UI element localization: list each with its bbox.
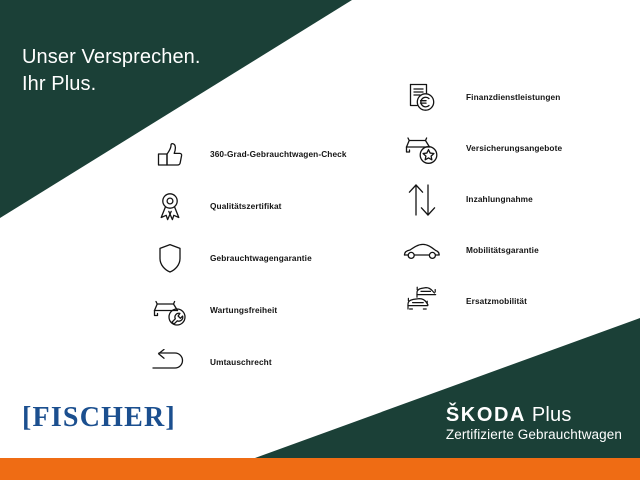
feature-item: Versicherungsangebote xyxy=(400,123,630,174)
headline-line-2: Ihr Plus. xyxy=(22,71,201,98)
feature-item: Umtauschrecht xyxy=(148,336,378,388)
orange-footer-bar xyxy=(0,458,640,480)
feature-item: Mobilitätsgarantie xyxy=(400,225,630,276)
feature-label: Qualitätszertifikat xyxy=(192,201,282,212)
dealer-logo-name: FISCHER xyxy=(33,402,166,433)
feature-item: Gebrauchtwagengarantie xyxy=(148,232,378,284)
promo-banner: Unser Versprechen. Ihr Plus. 360-Grad-Ge… xyxy=(0,0,640,480)
award-rosette-icon xyxy=(148,184,192,228)
feature-label: Umtauschrecht xyxy=(192,357,272,368)
feature-label: Versicherungsangebote xyxy=(444,143,562,154)
two-cars-icon xyxy=(400,280,444,324)
feature-label: Ersatzmobilität xyxy=(444,296,527,307)
brand-logo: ŠKODA Plus Zertifizierte Gebrauchtwagen xyxy=(446,404,622,443)
thumbs-up-icon xyxy=(148,132,192,176)
dealer-logo: [FISCHER] xyxy=(22,402,176,434)
feature-item: Inzahlungnahme xyxy=(400,174,630,225)
dealer-logo-bracket-close: ] xyxy=(165,402,176,433)
feature-label: 360-Grad-Gebrauchtwagen-Check xyxy=(192,149,347,160)
brand-plus-label: Plus xyxy=(526,404,571,426)
document-euro-icon xyxy=(400,76,444,120)
headline: Unser Versprechen. Ihr Plus. xyxy=(22,17,201,125)
feature-label: Inzahlungnahme xyxy=(444,194,533,205)
dealer-logo-bracket-open: [ xyxy=(22,402,33,433)
brand-wordmark: ŠKODA xyxy=(446,404,526,426)
feature-item: Ersatzmobilität xyxy=(400,276,630,327)
feature-label: Mobilitätsgarantie xyxy=(444,245,539,256)
car-star-icon xyxy=(400,127,444,171)
feature-label: Finanzdienstleistungen xyxy=(444,92,560,103)
feature-item: Qualitätszertifikat xyxy=(148,180,378,232)
brand-tagline: Zertifizierte Gebrauchtwagen xyxy=(446,427,622,443)
feature-list-right: Finanzdienstleistungen Versicherungsange… xyxy=(400,72,630,327)
feature-list-left: 360-Grad-Gebrauchtwagen-Check Qualitätsz… xyxy=(148,128,378,388)
car-wrench-icon xyxy=(148,288,192,332)
feature-item: Wartungsfreiheit xyxy=(148,284,378,336)
shield-icon xyxy=(148,236,192,280)
feature-item: 360-Grad-Gebrauchtwagen-Check xyxy=(148,128,378,180)
feature-item: Finanzdienstleistungen xyxy=(400,72,630,123)
up-down-arrows-icon xyxy=(400,178,444,222)
u-turn-arrow-icon xyxy=(148,340,192,384)
feature-label: Wartungsfreiheit xyxy=(192,305,277,316)
feature-label: Gebrauchtwagengarantie xyxy=(192,253,312,264)
car-side-icon xyxy=(400,229,444,273)
brand-logo-line-1: ŠKODA Plus xyxy=(446,404,622,426)
headline-line-1: Unser Versprechen. xyxy=(22,46,201,68)
